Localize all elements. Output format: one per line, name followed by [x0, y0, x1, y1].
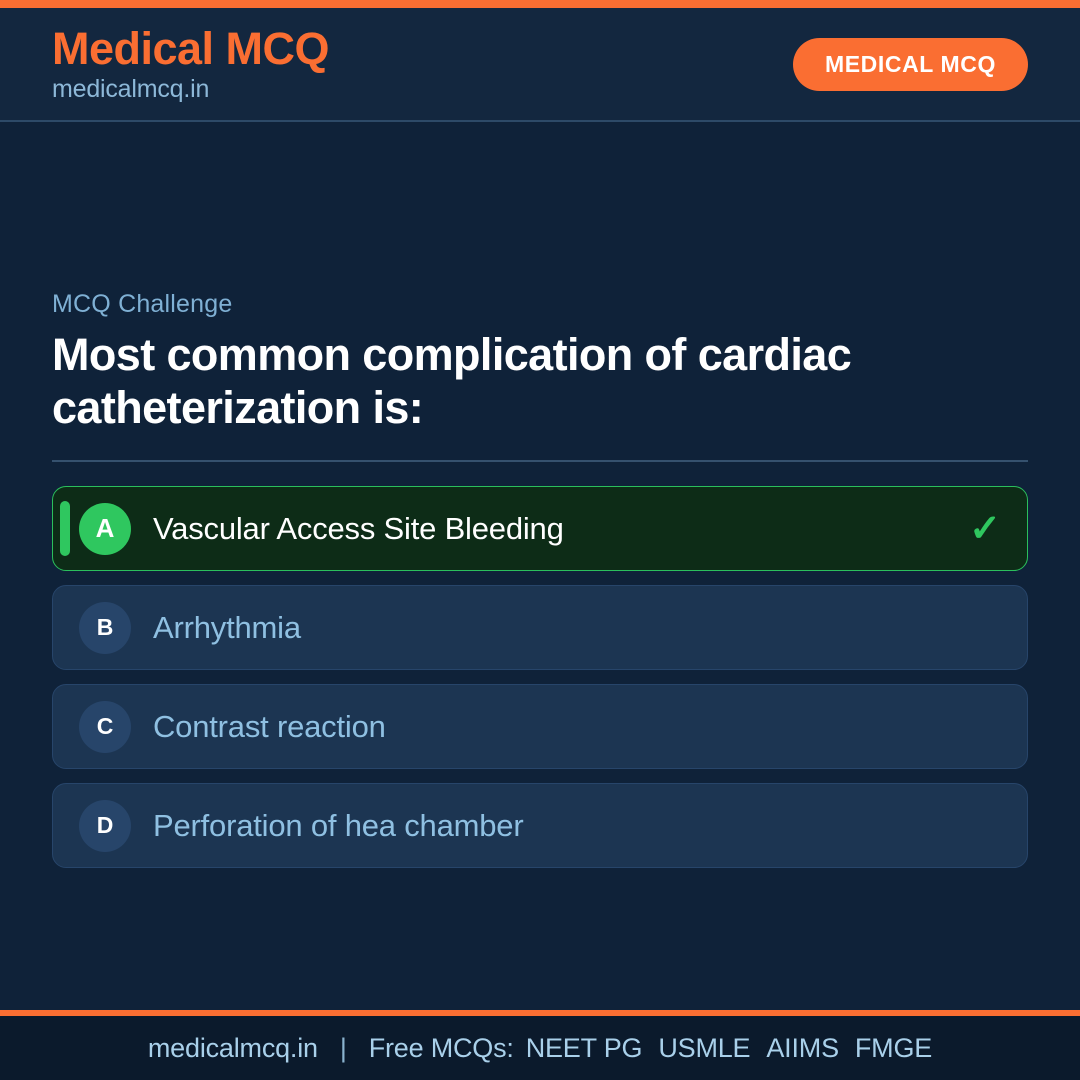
option-row-c[interactable]: C Contrast reaction — [52, 684, 1028, 769]
option-text-b: Arrhythmia — [153, 610, 1001, 646]
top-spacer — [52, 122, 1028, 290]
option-badge-a: A — [79, 503, 131, 555]
option-text-d: Perforation of hea chamber — [153, 808, 1001, 844]
main-content: MCQ Challenge Most common complication o… — [0, 122, 1080, 1010]
page-footer: medicalmcq.in | Free MCQs: NEET PG USMLE… — [0, 1016, 1080, 1080]
check-icon: ✓ — [969, 510, 1001, 548]
options-list: A Vascular Access Site Bleeding ✓ B Arrh… — [52, 486, 1028, 868]
correct-accent-bar — [60, 501, 70, 556]
option-text-c: Contrast reaction — [153, 709, 1001, 745]
question-text: Most common complication of cardiac cath… — [52, 329, 952, 434]
footer-label: Free MCQs: — [369, 1033, 514, 1064]
header-badge[interactable]: MEDICAL MCQ — [793, 38, 1028, 91]
footer-exam-aiims[interactable]: AIIMS — [766, 1033, 839, 1064]
brand-title: Medical MCQ — [52, 26, 329, 71]
footer-exam-fmge[interactable]: FMGE — [855, 1033, 932, 1064]
eyebrow-label: MCQ Challenge — [52, 290, 1028, 319]
option-row-b[interactable]: B Arrhythmia — [52, 585, 1028, 670]
option-badge-c: C — [79, 701, 131, 753]
brand-block: Medical MCQ medicalmcq.in — [52, 26, 329, 102]
footer-site-link[interactable]: medicalmcq.in — [148, 1033, 318, 1064]
option-row-a[interactable]: A Vascular Access Site Bleeding ✓ — [52, 486, 1028, 571]
footer-exam-neet-pg[interactable]: NEET PG — [526, 1033, 643, 1064]
option-badge-d: D — [79, 800, 131, 852]
option-row-d[interactable]: D Perforation of hea chamber — [52, 783, 1028, 868]
top-accent-bar — [0, 0, 1080, 8]
option-badge-b: B — [79, 602, 131, 654]
option-text-a: Vascular Access Site Bleeding — [153, 511, 957, 547]
question-divider — [52, 460, 1028, 462]
footer-exam-usmle[interactable]: USMLE — [658, 1033, 750, 1064]
page-header: Medical MCQ medicalmcq.in MEDICAL MCQ — [0, 8, 1080, 122]
footer-inner: medicalmcq.in | Free MCQs: NEET PG USMLE… — [148, 1033, 932, 1064]
brand-subtitle: medicalmcq.in — [52, 77, 329, 102]
mcq-card-page: Medical MCQ medicalmcq.in MEDICAL MCQ MC… — [0, 0, 1080, 1080]
footer-separator: | — [340, 1033, 347, 1064]
